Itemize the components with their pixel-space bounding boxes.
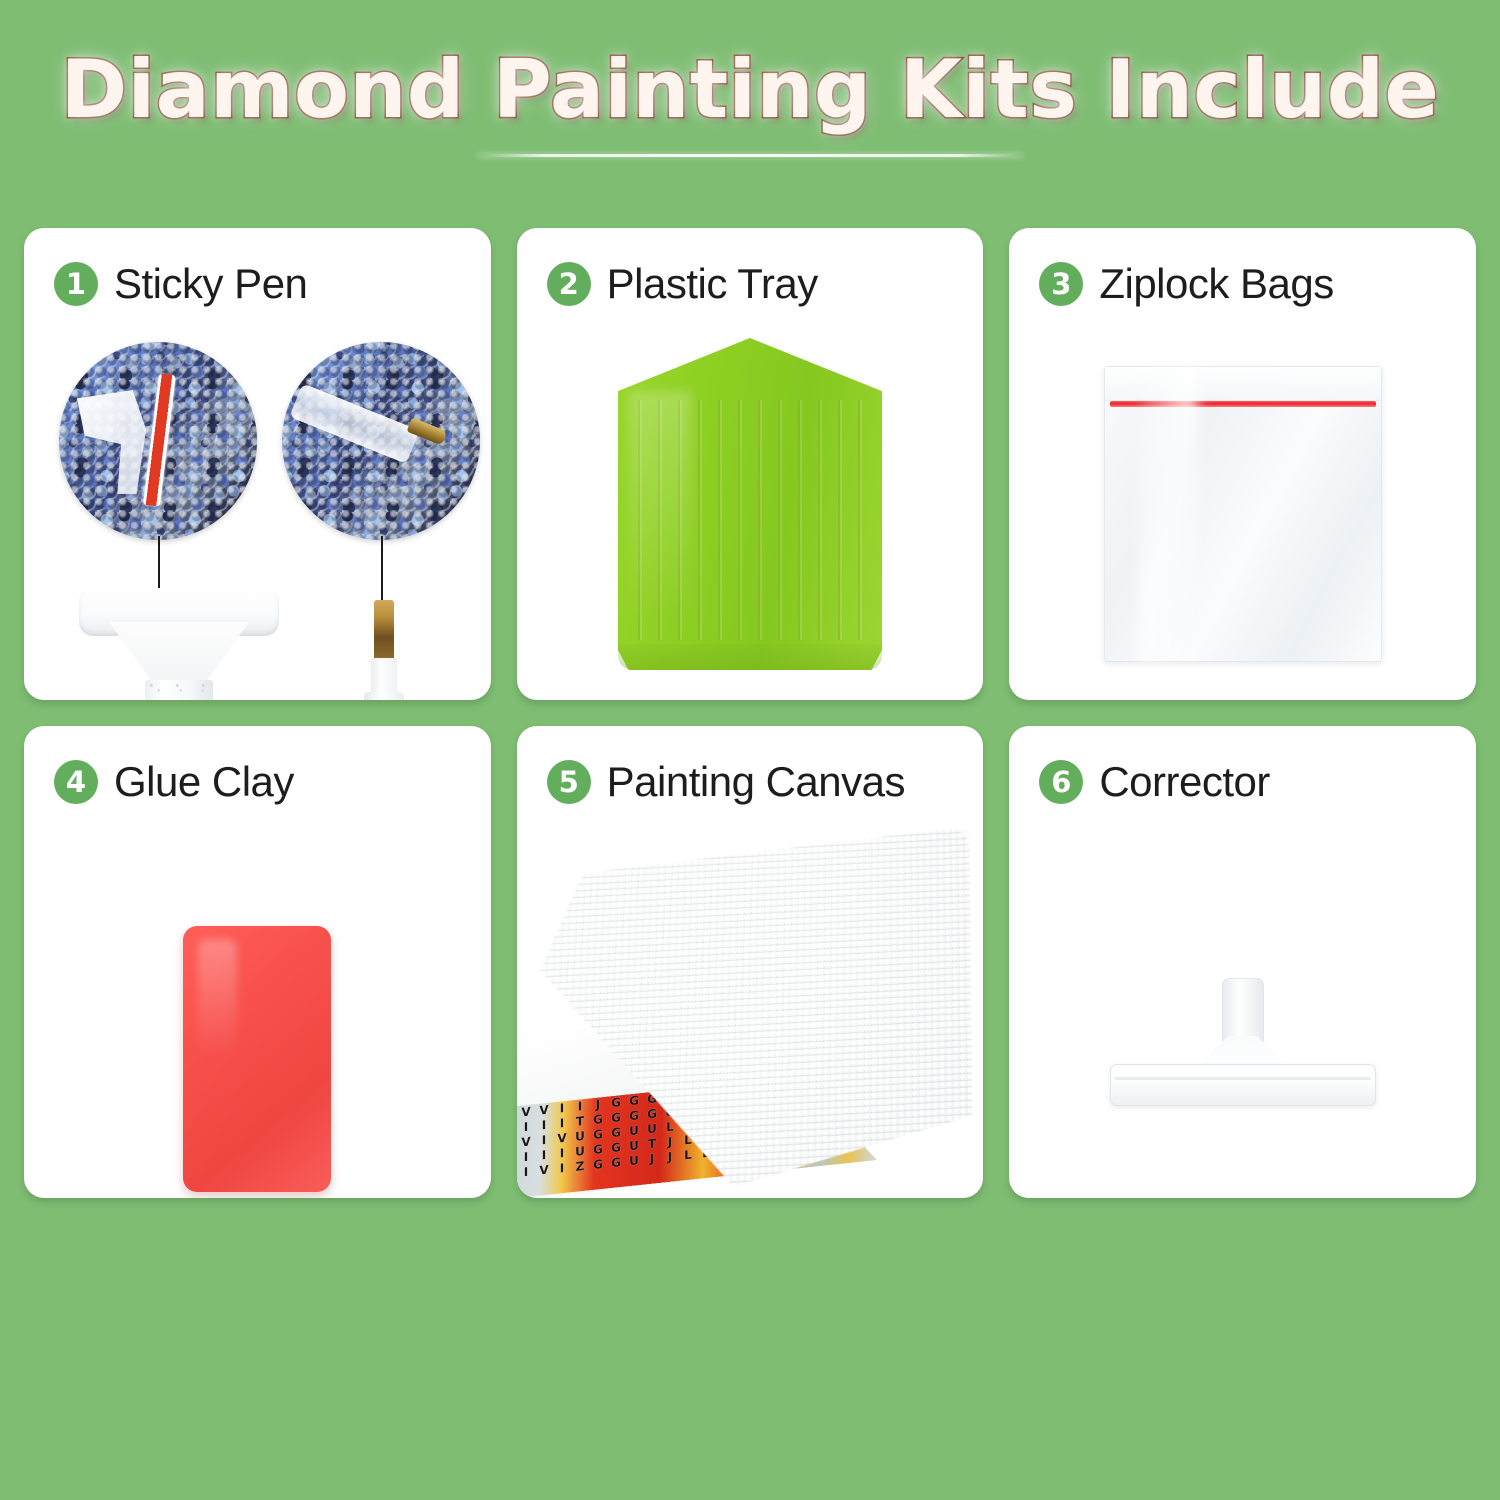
canvas-symbol-cell: I <box>517 1164 535 1181</box>
bag-sheen <box>1138 367 1199 661</box>
ziplock-bag <box>1104 366 1382 662</box>
ziplock-bag-illustration <box>1009 324 1476 700</box>
kit-card-plastic-tray[interactable]: 2 Plastic Tray <box>517 228 984 700</box>
squeegee-handle <box>145 680 213 700</box>
mini-squeegee-icon <box>77 370 207 510</box>
card-title-painting-canvas: Painting Canvas <box>607 758 905 806</box>
mini-pen-shaft <box>289 383 419 464</box>
step-badge-6: 6 <box>1039 760 1083 804</box>
card-header: 5 Painting Canvas <box>547 758 905 806</box>
corrector-base <box>1110 1064 1376 1106</box>
kit-card-sticky-pen[interactable]: 1 Sticky Pen <box>24 228 491 700</box>
card-title-sticky-pen: Sticky Pen <box>114 260 307 308</box>
mini-squeegee-red-strip <box>143 373 176 506</box>
pen-mid-section <box>364 692 404 700</box>
card-header: 3 Ziplock Bags <box>1039 260 1333 308</box>
card-header: 4 Glue Clay <box>54 758 294 806</box>
canvas-symbol-cell: G <box>589 1157 607 1174</box>
step-badge-5: 5 <box>547 760 591 804</box>
kit-card-ziplock-bags[interactable]: 3 Ziplock Bags <box>1009 228 1476 700</box>
squeegee-neck <box>109 622 249 688</box>
page-header: Diamond Painting Kits Include <box>0 0 1500 215</box>
kit-card-painting-canvas[interactable]: 5 Painting Canvas VVIIJGGGGGGCGGGGIIITGG… <box>517 726 984 1198</box>
canvas-symbol-cell: U <box>625 1153 643 1170</box>
leader-line-left <box>158 536 160 596</box>
zoom-callout-squeegee <box>59 342 257 540</box>
card-title-plastic-tray: Plastic Tray <box>607 260 818 308</box>
zoom-callout-pen-tip <box>282 342 480 540</box>
leader-line-right <box>381 536 383 610</box>
corrector-illustration <box>1009 822 1476 1198</box>
corrector-tool <box>1110 978 1376 1106</box>
tray-highlight <box>629 391 692 623</box>
sticky-pen-illustration <box>24 324 491 700</box>
mini-pen-icon <box>296 372 466 472</box>
kit-card-glue-clay[interactable]: 4 Glue Clay <box>24 726 491 1198</box>
card-title-ziplock-bags: Ziplock Bags <box>1099 260 1333 308</box>
canvas-symbol-cell: I <box>553 1160 571 1177</box>
canvas-symbol-cell: L <box>679 1147 697 1164</box>
card-header: 2 Plastic Tray <box>547 260 818 308</box>
page-title: Diamond Painting Kits Include <box>61 48 1439 132</box>
glue-clay-illustration <box>24 822 491 1198</box>
plastic-tray <box>618 338 882 670</box>
squeegee-tool <box>79 588 279 700</box>
step-badge-3: 3 <box>1039 262 1083 306</box>
card-title-glue-clay: Glue Clay <box>114 758 294 806</box>
painting-canvas-illustration: VVIIJGGGGGGCGGGGIIITGGGGUCGCGGJVIVUGGUUL… <box>517 822 984 1198</box>
glue-clay-block <box>183 926 331 1192</box>
step-badge-1: 1 <box>54 262 98 306</box>
canvas-symbol-cell: G <box>607 1155 625 1172</box>
plastic-tray-illustration <box>517 324 984 700</box>
kit-contents-grid: 1 Sticky Pen <box>24 228 1476 1443</box>
card-header: 6 Corrector <box>1039 758 1270 806</box>
step-badge-2: 2 <box>547 262 591 306</box>
canvas-symbol-cell: J <box>661 1149 679 1166</box>
tray-bottom-lip <box>618 644 882 670</box>
card-header: 1 Sticky Pen <box>54 260 307 308</box>
sticky-pen-tool <box>346 600 426 700</box>
card-title-corrector: Corrector <box>1099 758 1270 806</box>
kit-card-corrector[interactable]: 6 Corrector <box>1009 726 1476 1198</box>
title-divider <box>478 154 1023 157</box>
canvas-symbol-cell: Z <box>571 1158 589 1175</box>
canvas-symbol-cell: J <box>643 1151 661 1168</box>
canvas-symbol-cell: V <box>535 1162 553 1179</box>
pen-brass-tip <box>374 600 394 660</box>
step-badge-4: 4 <box>54 760 98 804</box>
canvas-scene: VVIIJGGGGGGCGGGGIIITGGGGUCGCGGJVIVUGGUUL… <box>517 822 984 1198</box>
